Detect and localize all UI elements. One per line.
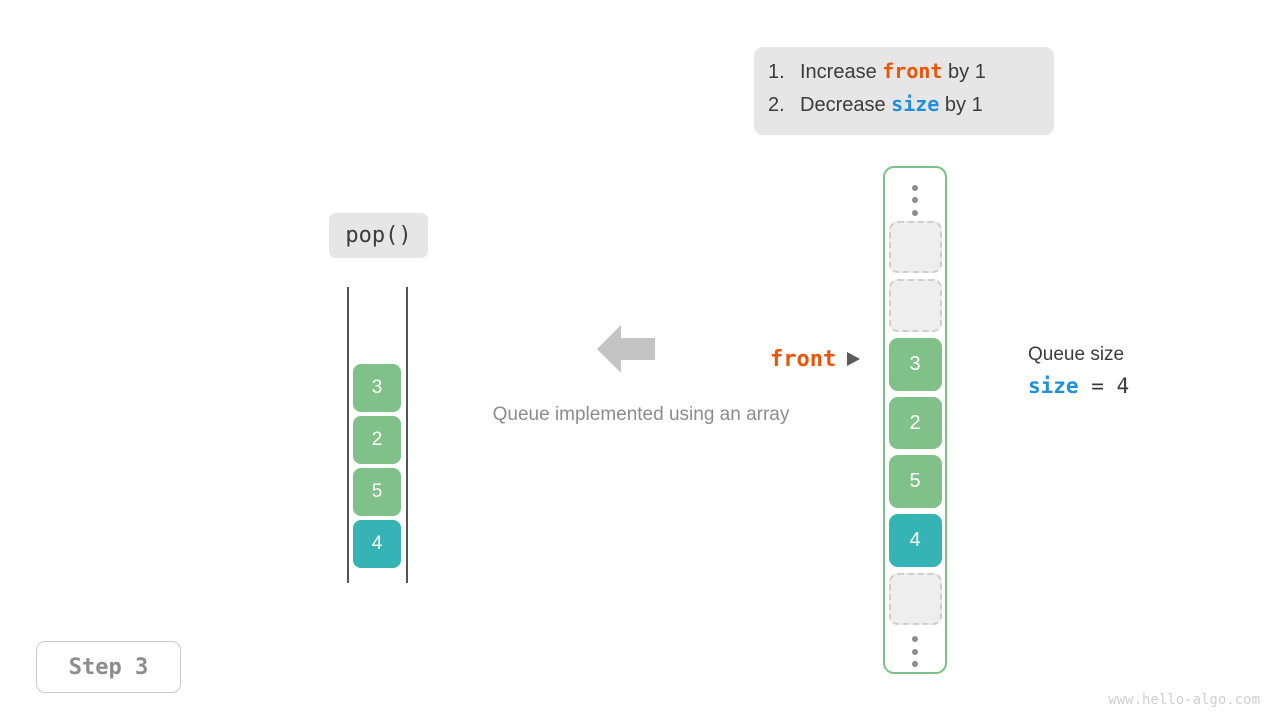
linear-queue-cells: 3 2 5 4 bbox=[353, 364, 401, 568]
vertical-ellipsis-icon-bottom bbox=[912, 636, 919, 667]
watermark: www.hello-algo.com bbox=[1108, 692, 1260, 708]
right-arrowhead-icon bbox=[847, 352, 860, 366]
linear-queue-cell: 2 bbox=[353, 416, 401, 464]
instruction-step-2-text-before: Decrease bbox=[800, 94, 891, 117]
cell-value: 2 bbox=[372, 429, 383, 451]
instruction-step-1-text-after: by 1 bbox=[942, 61, 985, 84]
size-readout-title: Queue size bbox=[1028, 344, 1228, 366]
watermark-text: www.hello-algo.com bbox=[1108, 692, 1260, 708]
cell-value: 4 bbox=[372, 533, 383, 555]
instruction-step-1-code: front bbox=[882, 59, 942, 83]
linear-queue-cell: 5 bbox=[353, 468, 401, 516]
diagram-caption-text: Queue implemented using an array bbox=[493, 404, 790, 425]
instruction-callout: 1. Increase front by 1 2. Decrease size … bbox=[754, 47, 1054, 135]
left-arrow-icon bbox=[597, 324, 655, 374]
array-slot-empty bbox=[889, 279, 942, 332]
size-variable-name: size bbox=[1028, 374, 1079, 398]
array-slot-empty bbox=[889, 573, 942, 626]
array-slot-empty bbox=[889, 221, 942, 274]
cell-value: 3 bbox=[372, 377, 383, 399]
circular-array: 3 2 5 4 bbox=[883, 166, 947, 674]
slot-value: 5 bbox=[909, 470, 920, 493]
linear-queue: 3 2 5 4 bbox=[340, 285, 416, 585]
size-readout: Queue size size = 4 bbox=[1028, 344, 1228, 398]
operation-label-text: pop() bbox=[345, 223, 411, 248]
diagram-caption: Queue implemented using an array bbox=[455, 404, 827, 426]
slot-value: 4 bbox=[909, 529, 920, 552]
array-slot-filled: 5 bbox=[889, 455, 942, 508]
size-readout-expression: size = 4 bbox=[1028, 374, 1228, 398]
instruction-step-2-code: size bbox=[891, 92, 939, 116]
step-badge: Step 3 bbox=[36, 641, 181, 693]
linear-queue-cell: 3 bbox=[353, 364, 401, 412]
instruction-step-1-text-before: Increase bbox=[800, 61, 882, 84]
front-pointer: front bbox=[770, 344, 860, 374]
array-slot-filled: 4 bbox=[889, 514, 942, 567]
cell-value: 5 bbox=[372, 481, 383, 503]
vertical-ellipsis-icon-top bbox=[912, 185, 919, 216]
queue-rail-left bbox=[347, 287, 349, 583]
instruction-step-1: 1. Increase front by 1 bbox=[754, 59, 1054, 92]
queue-rail-right bbox=[406, 287, 408, 583]
instruction-step-2-text-after: by 1 bbox=[939, 94, 982, 117]
linear-queue-cell: 4 bbox=[353, 520, 401, 568]
diagram-stage: 1. Increase front by 1 2. Decrease size … bbox=[0, 0, 1280, 720]
step-badge-label: Step 3 bbox=[69, 655, 148, 680]
instruction-step-1-index: 1. bbox=[768, 61, 800, 84]
size-value: 4 bbox=[1117, 374, 1130, 398]
array-slot-filled: 2 bbox=[889, 397, 942, 450]
array-slot-filled: 3 bbox=[889, 338, 942, 391]
instruction-step-2-index: 2. bbox=[768, 94, 800, 117]
size-operator: = bbox=[1079, 374, 1117, 398]
front-pointer-label: front bbox=[770, 347, 836, 372]
slot-value: 2 bbox=[909, 412, 920, 435]
instruction-step-2: 2. Decrease size by 1 bbox=[754, 92, 1054, 125]
operation-label: pop() bbox=[329, 213, 428, 258]
slot-value: 3 bbox=[909, 353, 920, 376]
